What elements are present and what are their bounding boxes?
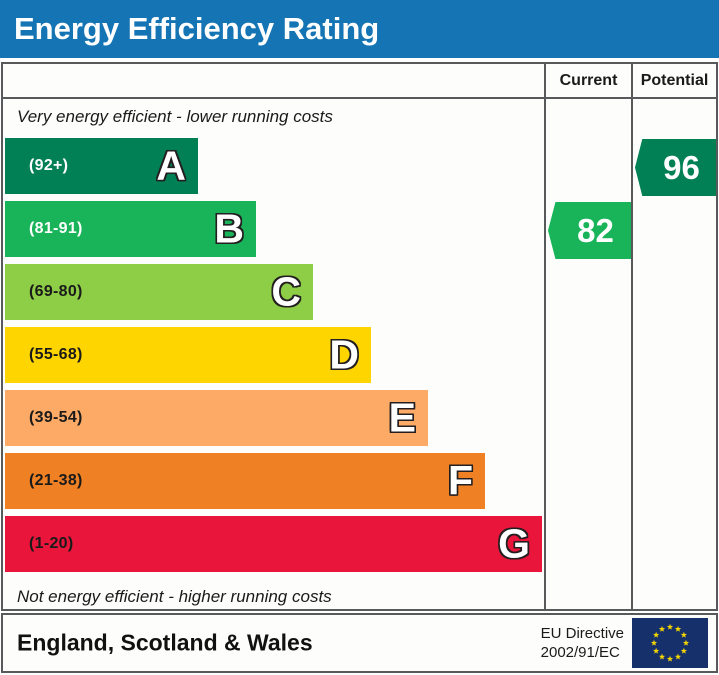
rating-band-e: (39-54)E <box>5 390 428 446</box>
rating-band-f: (21-38)F <box>5 453 485 509</box>
band-letter-d: D <box>329 335 359 376</box>
eu-stars-icon <box>632 618 708 668</box>
column-divider-potential <box>631 99 633 611</box>
band-range-d: (55-68) <box>29 346 83 364</box>
band-letter-g: G <box>498 524 530 565</box>
directive-line-1: EU Directive <box>541 624 624 643</box>
current-rating-value: 82 <box>565 214 614 247</box>
caption-very-efficient: Very energy efficient - lower running co… <box>17 107 333 127</box>
directive-line-2: 2002/91/EC <box>541 643 624 662</box>
band-range-c: (69-80) <box>29 283 83 301</box>
table-header-row: Current Potential <box>3 64 716 99</box>
rating-bands: (92+)A(81-91)B(69-80)C(55-68)D(39-54)E(2… <box>5 138 542 578</box>
band-range-b: (81-91) <box>29 220 83 238</box>
caption-not-efficient: Not energy efficient - higher running co… <box>17 587 332 607</box>
potential-rating-value: 96 <box>651 151 700 184</box>
rating-band-a: (92+)A <box>5 138 198 194</box>
rating-band-g: (1-20)G <box>5 516 542 572</box>
page-title: Energy Efficiency Rating <box>14 11 379 47</box>
band-letter-a: A <box>156 146 186 187</box>
column-divider-current <box>544 99 546 611</box>
band-letter-f: F <box>448 461 473 502</box>
band-letter-e: E <box>389 398 416 439</box>
current-rating-badge: 82 <box>548 202 631 259</box>
chart-footer: England, Scotland & Wales EU Directive 2… <box>1 613 718 673</box>
footer-directive-label: EU Directive 2002/91/EC <box>541 624 624 662</box>
footer-region-label: England, Scotland & Wales <box>17 630 313 657</box>
band-range-e: (39-54) <box>29 409 83 427</box>
band-range-f: (21-38) <box>29 472 83 490</box>
column-header-current: Current <box>544 64 631 97</box>
potential-rating-badge: 96 <box>635 139 716 196</box>
band-letter-b: B <box>214 209 244 250</box>
rating-band-c: (69-80)C <box>5 264 313 320</box>
column-header-potential: Potential <box>631 64 716 97</box>
energy-efficiency-rating-chart: Energy Efficiency Rating Current Potenti… <box>0 0 719 675</box>
band-letter-c: C <box>271 272 301 313</box>
rating-band-d: (55-68)D <box>5 327 371 383</box>
band-range-g: (1-20) <box>29 535 73 553</box>
eu-flag-icon <box>632 618 708 668</box>
rating-table: Current Potential Very energy efficient … <box>1 62 718 611</box>
band-range-a: (92+) <box>29 157 68 175</box>
chart-title-banner: Energy Efficiency Rating <box>0 0 719 58</box>
rating-band-b: (81-91)B <box>5 201 256 257</box>
